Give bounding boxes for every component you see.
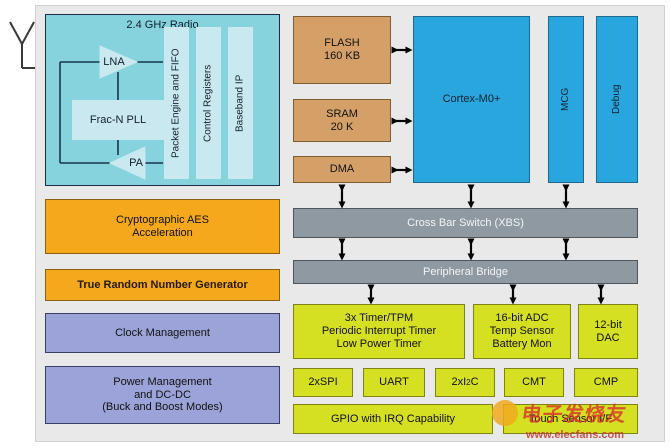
dac-line2: DAC <box>596 332 619 345</box>
frac-n-pll-block: Frac-N PLL <box>72 100 164 140</box>
crypto-aes-block: Cryptographic AES Acceleration <box>45 199 280 254</box>
cross-bar-switch-block: Cross Bar Switch (XBS) <box>293 208 638 238</box>
timers-line1: 3x Timer/TPM <box>345 312 413 325</box>
dac-block: 12-bit DAC <box>578 304 638 359</box>
i2c-label-pre: 2xI <box>451 376 466 389</box>
adc-line2: Temp Sensor <box>490 325 555 338</box>
mcg-block: MCG <box>548 16 584 183</box>
adc-line1: 16-bit ADC <box>495 312 548 325</box>
lna-label: LNA <box>96 54 132 70</box>
flash-line2: 160 KB <box>324 50 360 63</box>
dma-block: DMA <box>293 156 391 183</box>
touch-sensor-block: Touch Sensor I/F <box>503 404 638 434</box>
power-mgmt-line3: (Buck and Boost Modes) <box>102 401 222 414</box>
cortex-m0-plus-block: Cortex-M0+ <box>413 16 530 183</box>
i2c-block: 2xI2C <box>435 368 495 397</box>
timers-block: 3x Timer/TPM Periodic Interrupt Timer Lo… <box>293 304 465 359</box>
adc-block: 16-bit ADC Temp Sensor Battery Mon <box>473 304 571 359</box>
trng-block: True Random Number Generator <box>45 269 280 301</box>
baseband-ip-block: Baseband IP <box>228 27 253 179</box>
dac-line1: 12-bit <box>594 319 622 332</box>
pa-label: PA <box>122 155 150 171</box>
uart-block: UART <box>363 368 425 397</box>
sram-line1: SRAM <box>326 108 358 121</box>
debug-block: Debug <box>596 16 638 183</box>
control-registers-block: Control Registers <box>196 27 221 179</box>
spi-block: 2xSPI <box>293 368 353 397</box>
crypto-aes-line1: Cryptographic AES <box>116 214 209 227</box>
timers-line3: Low Power Timer <box>337 338 422 351</box>
crypto-aes-line2: Acceleration <box>132 227 193 240</box>
cmp-block: CMP <box>574 368 638 397</box>
peripheral-bridge-block: Peripheral Bridge <box>293 260 638 284</box>
cmt-block: CMT <box>504 368 564 397</box>
packet-engine-fifo-block: Packet Engine and FIFO <box>164 27 189 179</box>
gpio-block: GPIO with IRQ Capability <box>293 404 493 434</box>
adc-line3: Battery Mon <box>492 338 551 351</box>
power-management-block: Power Management and DC-DC (Buck and Boo… <box>45 366 280 424</box>
block-diagram-canvas: 2.4 GHz Radio LNA PA Frac-N PLL Packet E… <box>0 0 670 447</box>
sram-block: SRAM 20 K <box>293 99 391 142</box>
power-mgmt-line1: Power Management <box>113 376 211 389</box>
power-mgmt-line2: and DC-DC <box>134 389 191 402</box>
i2c-label-post: C <box>471 376 479 389</box>
clock-management-block: Clock Management <box>45 313 280 353</box>
flash-line1: FLASH <box>324 37 359 50</box>
timers-line2: Periodic Interrupt Timer <box>322 325 436 338</box>
flash-block: FLASH 160 KB <box>293 16 391 84</box>
sram-line2: 20 K <box>331 121 354 134</box>
